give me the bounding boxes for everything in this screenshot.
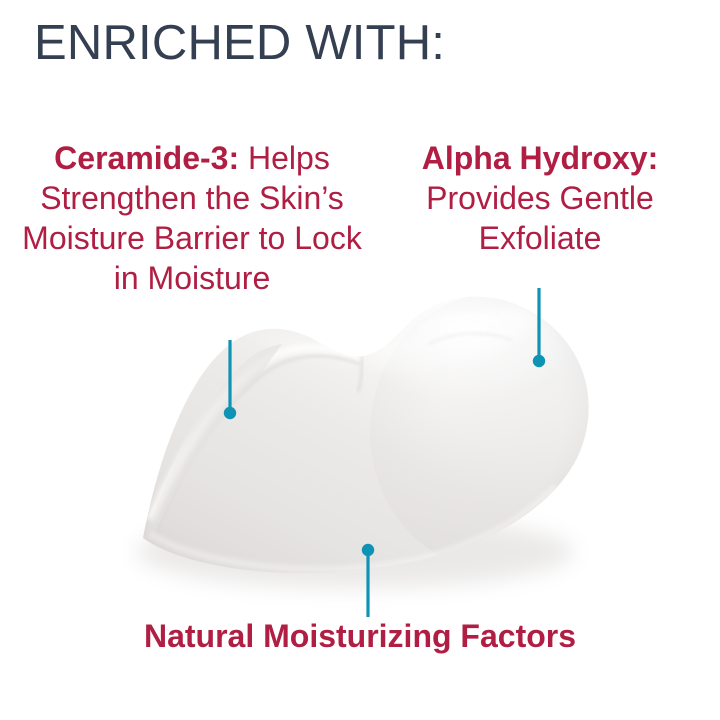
callout-alpha-hydroxy: Alpha Hydroxy: Provides Gentle Exfoliate bbox=[392, 138, 688, 258]
callout-natural-moisturizing-factors-term: Natural Moisturizing Factors bbox=[144, 618, 576, 654]
text-content: ENRICHED WITH: Ceramide-3: Helps Strengt… bbox=[0, 0, 720, 720]
callout-ceramide-term: Ceramide-3: bbox=[54, 140, 239, 176]
callout-natural-moisturizing-factors: Natural Moisturizing Factors bbox=[60, 616, 660, 656]
infographic-canvas: ENRICHED WITH: Ceramide-3: Helps Strengt… bbox=[0, 0, 720, 720]
callout-alpha-hydroxy-term: Alpha Hydroxy: bbox=[422, 140, 658, 176]
callout-alpha-hydroxy-description: Provides Gentle Exfoliate bbox=[426, 180, 654, 256]
page-title: ENRICHED WITH: bbox=[34, 14, 445, 72]
callout-ceramide: Ceramide-3: Helps Strengthen the Skin’s … bbox=[18, 138, 366, 298]
